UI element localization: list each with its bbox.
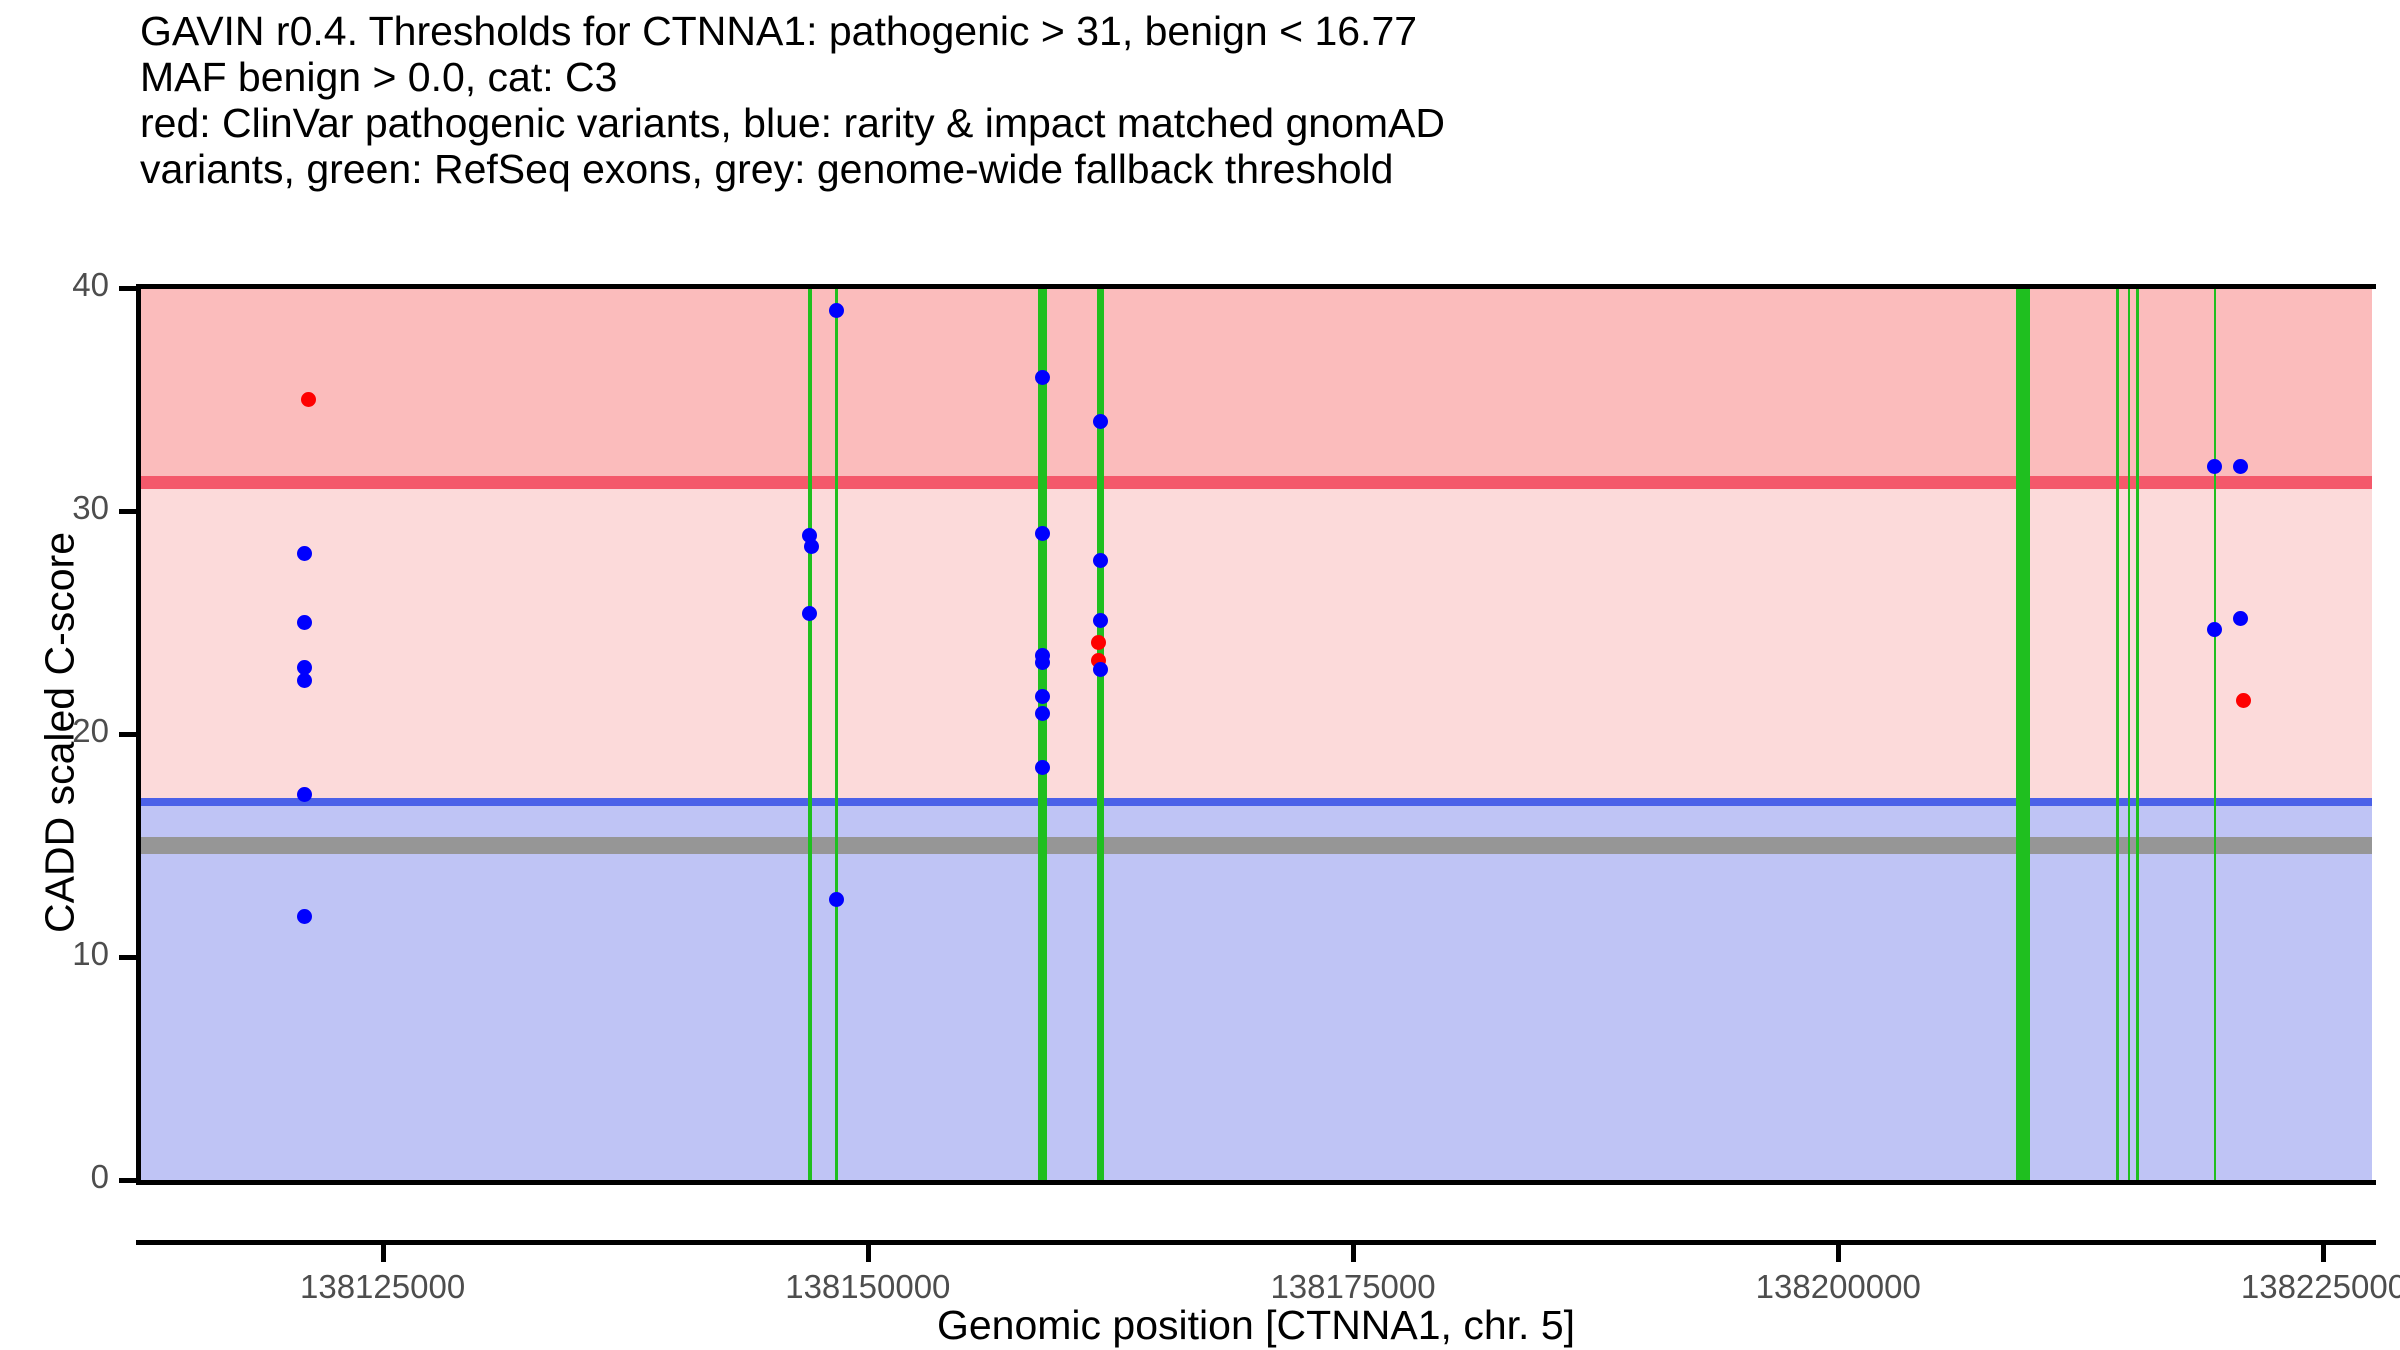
title-line-1: GAVIN r0.4. Thresholds for CTNNA1: patho… [140, 8, 2340, 54]
panel-top-border [136, 284, 2376, 289]
exon-line-7 [2136, 288, 2139, 1180]
x-tick-138225000 [2321, 1245, 2326, 1262]
gnomad-variant-point [1035, 760, 1050, 775]
gnomad-variant-point [829, 303, 844, 318]
gnomad-variant-point [1093, 613, 1108, 628]
band-genome-wide-fallback-line [140, 837, 2372, 854]
x-axis-line [136, 1240, 2376, 1245]
x-tick-138125000 [381, 1245, 386, 1262]
gnomad-variant-point [2233, 459, 2248, 474]
exon-line-2 [1038, 288, 1047, 1180]
chart-page: GAVIN r0.4. Thresholds for CTNNA1: patho… [0, 0, 2400, 1350]
y-tick-30 [119, 509, 136, 514]
y-tick-10 [119, 955, 136, 960]
x-tick-138150000 [866, 1245, 871, 1262]
x-tick-label-138175000: 138175000 [1270, 1268, 1435, 1306]
exon-line-5 [2116, 288, 2119, 1180]
gnomad-variant-point [1093, 662, 1108, 677]
title-line-3: red: ClinVar pathogenic variants, blue: … [140, 100, 2340, 146]
gnomad-variant-point [2233, 611, 2248, 626]
band-vus-zone [140, 489, 2372, 806]
x-tick-label-138150000: 138150000 [785, 1268, 950, 1306]
x-tick-138200000 [1836, 1245, 1841, 1262]
gnomad-variant-point [829, 892, 844, 907]
y-tick-0 [119, 1178, 136, 1183]
x-axis-title: Genomic position [CTNNA1, chr. 5] [140, 1302, 2372, 1349]
x-tick-label-138125000: 138125000 [300, 1268, 465, 1306]
y-axis-line [136, 284, 141, 1184]
exon-line-4 [2016, 288, 2030, 1180]
band-benign-zone [140, 806, 2372, 1180]
x-tick-138175000 [1351, 1245, 1356, 1262]
y-tick-label-40: 40 [0, 266, 121, 304]
panel-bottom-border [136, 1180, 2376, 1185]
gnomad-variant-point [1035, 370, 1050, 385]
x-tick-label-138225000: 138225000 [2241, 1268, 2400, 1306]
exon-line-8 [2214, 288, 2216, 1180]
gnomad-variant-point [1093, 553, 1108, 568]
exon-line-6 [2128, 288, 2130, 1180]
gnomad-variant-point [1035, 689, 1050, 704]
exon-line-0 [808, 288, 812, 1180]
band-pathogenic-zone [140, 288, 2372, 489]
plot-panel [140, 288, 2372, 1180]
chart-title-block: GAVIN r0.4. Thresholds for CTNNA1: patho… [140, 8, 2340, 192]
title-line-4: variants, green: RefSeq exons, grey: gen… [140, 146, 2340, 192]
y-tick-40 [119, 286, 136, 291]
gnomad-variant-point [2207, 622, 2222, 637]
exon-line-1 [835, 288, 838, 1180]
title-line-2: MAF benign > 0.0, cat: C3 [140, 54, 2340, 100]
y-tick-label-0: 0 [0, 1158, 121, 1196]
x-tick-label-138200000: 138200000 [1756, 1268, 1921, 1306]
y-tick-20 [119, 732, 136, 737]
y-axis-title: CADD scaled C-score [37, 333, 84, 1133]
plot-area [140, 288, 2372, 1180]
gnomad-variant-point [1035, 526, 1050, 541]
